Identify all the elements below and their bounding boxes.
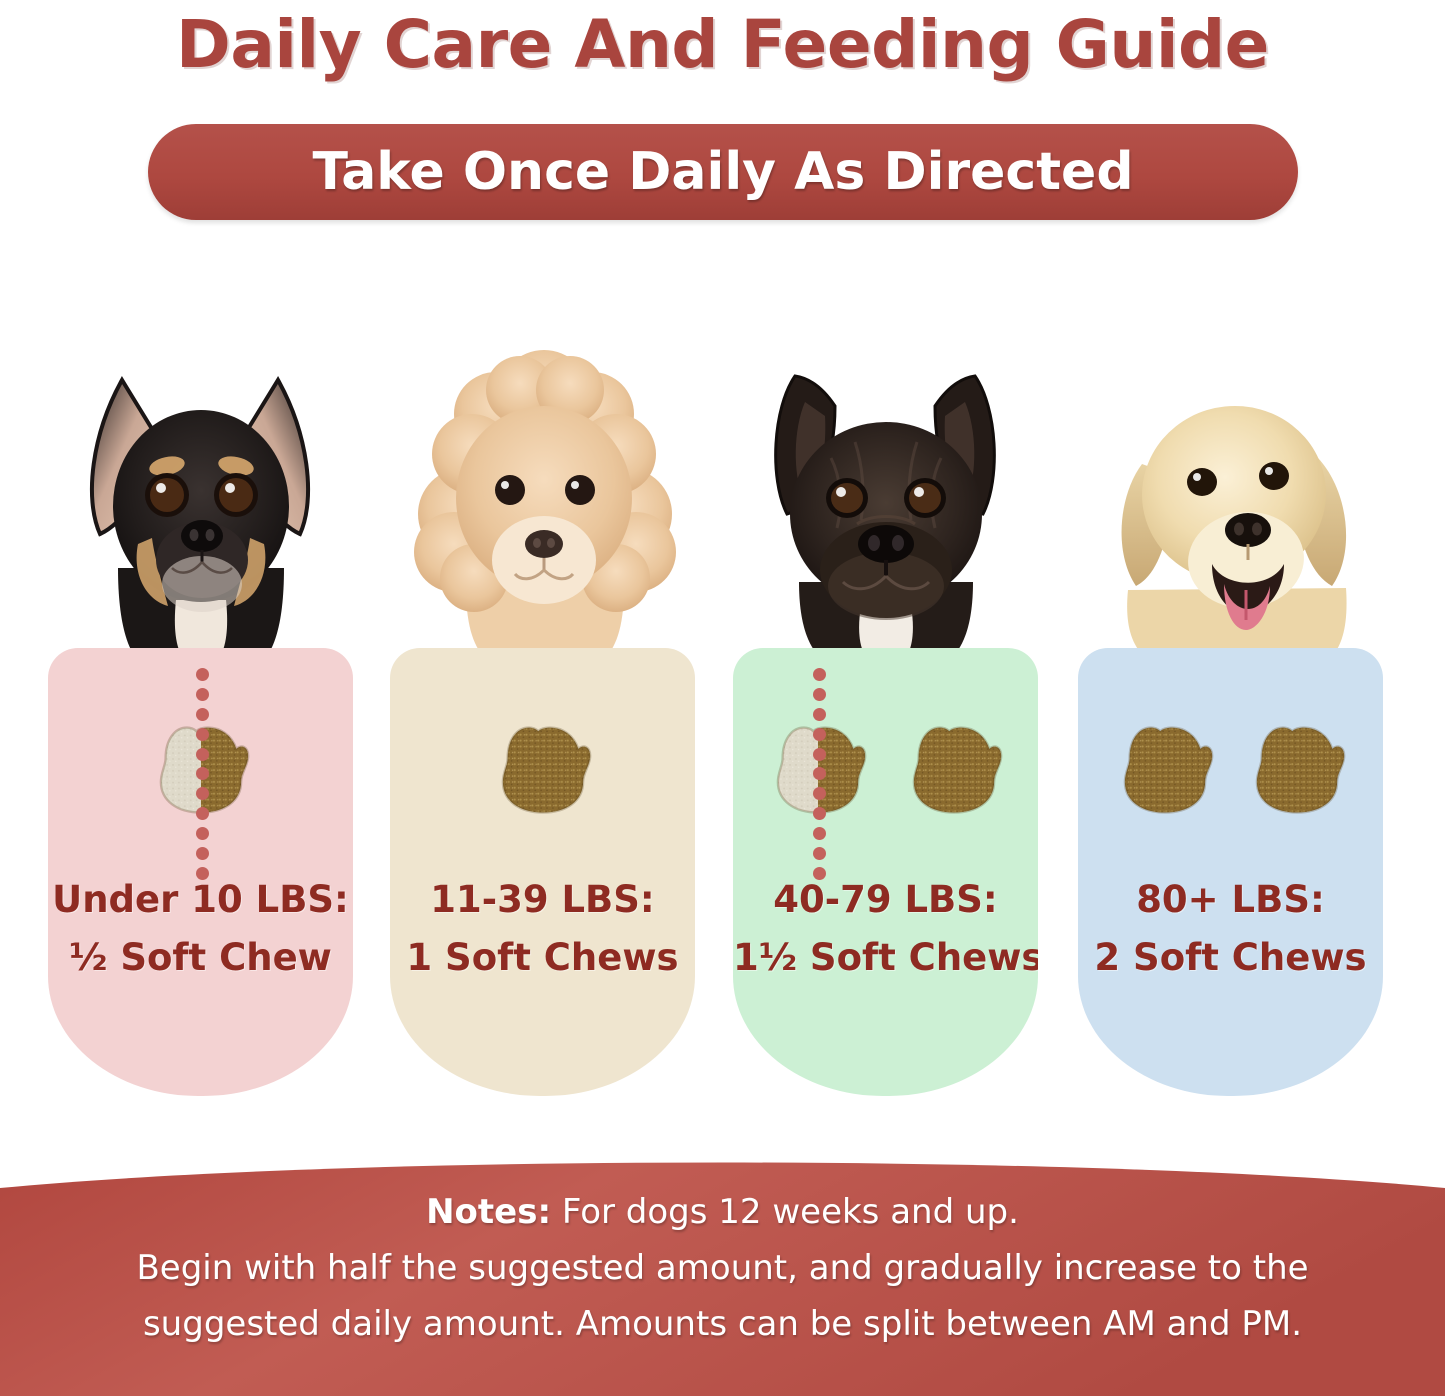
card-weight-label: 40-79 LBS:	[733, 878, 1038, 921]
card-weight-label: 80+ LBS:	[1078, 878, 1383, 921]
dosage-card-list: Under 10 LBS: ½ Soft Chew	[0, 0, 1445, 1110]
notes-text: Notes: For dogs 12 weeks and up. Begin w…	[0, 1184, 1445, 1352]
half-divider-dots	[813, 668, 826, 880]
notes-line-1: For dogs 12 weeks and up.	[551, 1192, 1019, 1232]
card-body: Under 10 LBS: ½ Soft Chew	[48, 648, 353, 1096]
chew-full	[1106, 704, 1224, 822]
card-dose-label: 2 Soft Chews	[1078, 936, 1383, 979]
half-divider-dots	[196, 668, 209, 880]
chew-full	[895, 704, 1013, 822]
card-body: 80+ LBS: 2 Soft Chews	[1078, 648, 1383, 1096]
chew-row	[48, 704, 353, 844]
card-weight-label: Under 10 LBS:	[48, 878, 353, 921]
card-body: 40-79 LBS: 1½ Soft Chews	[733, 648, 1038, 1096]
card-body: 11-39 LBS: 1 Soft Chews	[390, 648, 695, 1096]
dog-photo-chihuahua	[26, 338, 376, 668]
card-dose-label: 1 Soft Chews	[390, 936, 695, 979]
dosage-card-40-79[interactable]: 40-79 LBS: 1½ Soft Chews	[733, 300, 1038, 1100]
chew-row	[390, 704, 695, 844]
dog-photo-poodle	[368, 338, 718, 668]
chew-row	[1078, 704, 1383, 844]
notes-footer: Notes: For dogs 12 weeks and up. Begin w…	[0, 1150, 1445, 1396]
notes-line-3: suggested daily amount. Amounts can be s…	[60, 1296, 1385, 1352]
card-weight-label: 11-39 LBS:	[390, 878, 695, 921]
dog-photo-french-bulldog	[711, 338, 1061, 668]
notes-line-2: Begin with half the suggested amount, an…	[60, 1240, 1385, 1296]
dosage-card-11-39[interactable]: 11-39 LBS: 1 Soft Chews	[390, 300, 695, 1100]
dosage-card-80-plus[interactable]: 80+ LBS: 2 Soft Chews	[1078, 300, 1383, 1100]
card-dose-label: 1½ Soft Chews	[733, 936, 1038, 979]
chew-row	[733, 704, 1038, 844]
dog-photo-golden-retriever	[1056, 338, 1406, 668]
card-dose-label: ½ Soft Chew	[48, 936, 353, 979]
chew-full	[484, 704, 602, 822]
notes-label: Notes:	[426, 1192, 551, 1232]
chew-full	[1238, 704, 1356, 822]
dosage-card-under-10[interactable]: Under 10 LBS: ½ Soft Chew	[48, 300, 353, 1100]
